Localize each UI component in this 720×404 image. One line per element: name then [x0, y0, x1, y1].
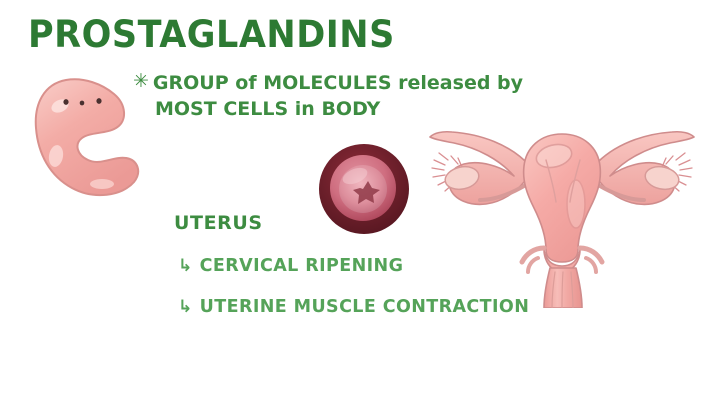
- list-item: ↳CERVICAL RIPENING: [178, 256, 403, 276]
- cell-body: [36, 79, 138, 195]
- lead-word-body: BODY: [321, 98, 380, 120]
- lead-word-of: of: [235, 72, 256, 94]
- slide-canvas: PROSTAGLANDINS ✳GROUP of MOLECULES relea…: [0, 0, 720, 404]
- prostaglandin-cell-blob-illustration: [30, 72, 148, 200]
- fallopian-tube-right: [594, 132, 694, 205]
- lead-word-molecules: MOLECULES: [263, 72, 391, 94]
- page-title: PROSTAGLANDINS: [28, 14, 395, 56]
- list-item-label: CERVICAL RIPENING: [200, 256, 404, 276]
- lead-word-most-cells: MOST CELLS: [155, 98, 288, 120]
- lead-word-group: GROUP: [153, 72, 229, 94]
- cell-highlight: [90, 179, 114, 189]
- cervix-cross-section-illustration: [315, 140, 413, 238]
- arrow-down-right-icon: ↳: [178, 297, 193, 317]
- cell-dot: [80, 101, 85, 106]
- uterus-highlight: [567, 180, 585, 228]
- ligament-stub-left-2: [528, 258, 538, 272]
- fallopian-tube-left: [430, 132, 530, 205]
- cell-dot: [96, 98, 101, 104]
- lead-line-1: ✳GROUP of MOLECULES released by: [133, 68, 563, 96]
- ligament-stub-right-2: [586, 258, 596, 272]
- uterus-anatomy-illustration: [418, 108, 706, 308]
- lead-word-in: in: [295, 98, 315, 120]
- arrow-down-right-icon: ↳: [178, 256, 193, 276]
- section-heading-uterus: UTERUS: [174, 212, 263, 234]
- lead-word-released-by: released by: [398, 72, 523, 94]
- cell-dot: [63, 99, 68, 105]
